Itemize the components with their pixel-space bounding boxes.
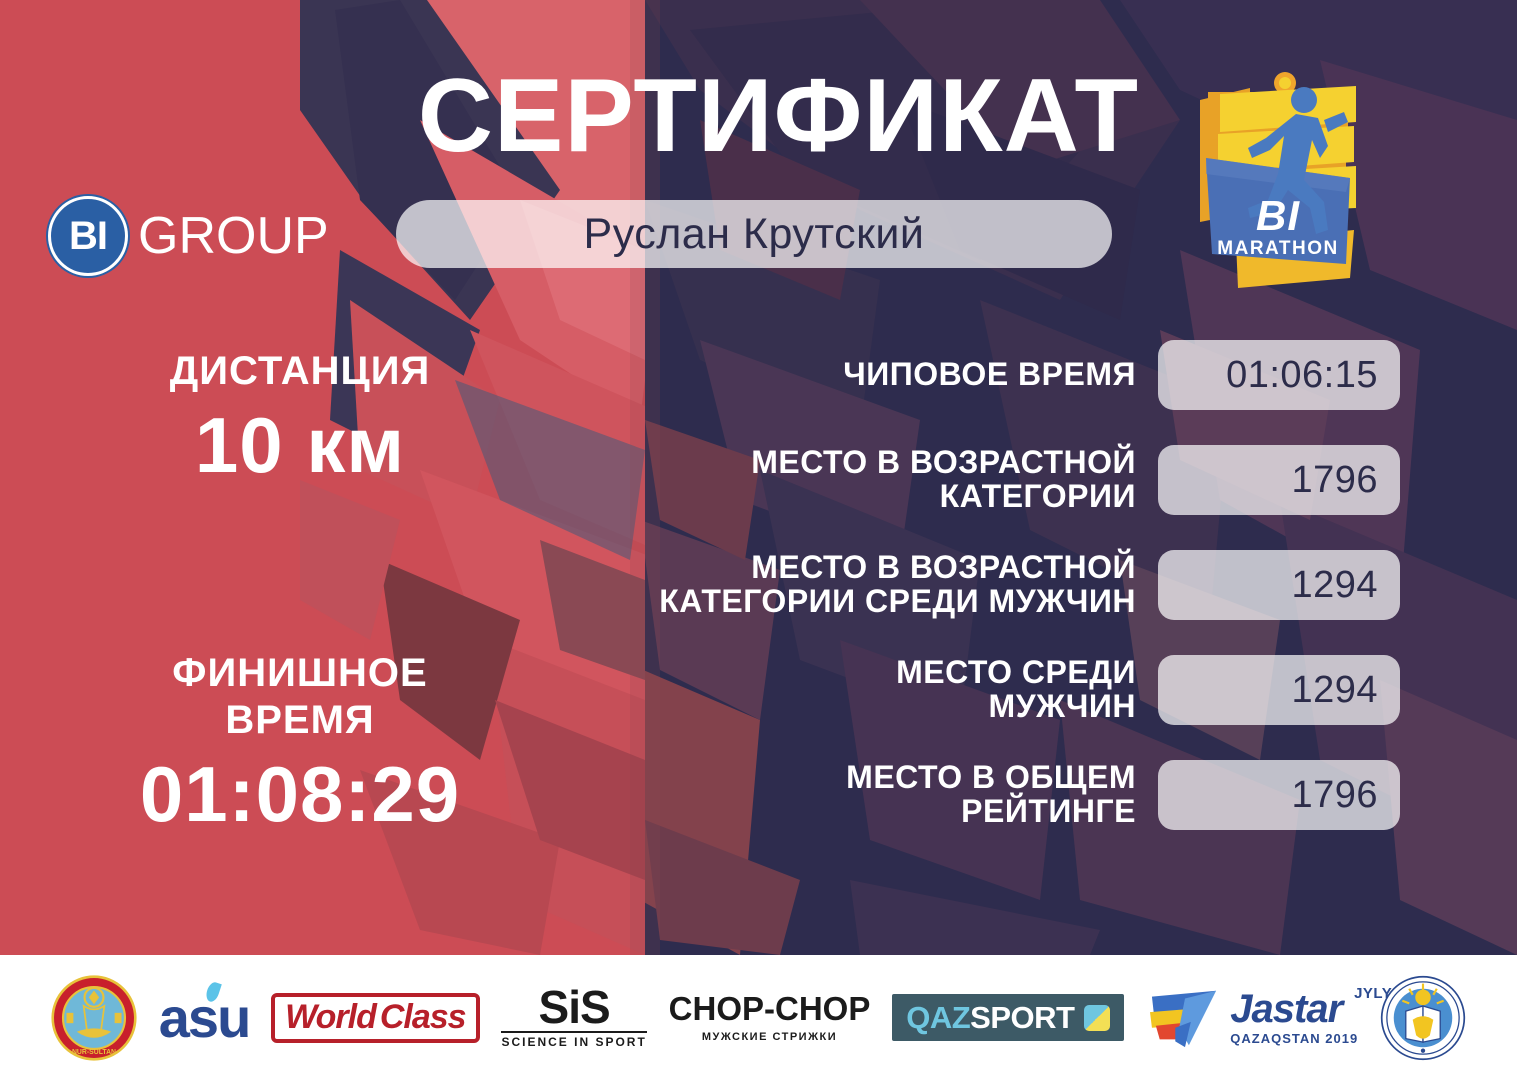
sponsor-bar: NUR-SULTAN asu World Class SiS SCIENCE I… [0, 955, 1517, 1080]
nur-sultan-emblem-icon: NUR-SULTAN [51, 975, 137, 1061]
asu-wordmark: asu [159, 990, 250, 1046]
result-row: МЕСТО СРЕДИ МУЖЧИН 1294 [520, 655, 1400, 725]
certificate-canvas: СЕРТИФИКАТ Руслан Крутский BI GROUP [0, 0, 1517, 1080]
result-label: МЕСТО СРЕДИ МУЖЧИН [896, 656, 1158, 723]
result-row: МЕСТО В ВОЗРАСТНОЙ КАТЕГОРИИ 1796 [520, 445, 1400, 515]
jastar-superscript: JYLY [1354, 985, 1392, 1002]
sis-wordmark: SiS SCIENCE IN SPORT [501, 986, 646, 1050]
chop-chop-wordmark: CHOP-CHOP МУЖСКИЕ СТРИЖКИ [669, 992, 871, 1043]
ministry-seal-icon [1380, 975, 1466, 1061]
distance-value: 10 км [60, 401, 540, 491]
qazsport-wordmark: QAZSPORT [892, 994, 1124, 1041]
result-row: МЕСТО В ОБЩЕМ РЕЙТИНГЕ 1796 [520, 760, 1400, 830]
qazsport-text-1: QAZ [906, 1000, 970, 1035]
sponsor-ministry [1380, 975, 1466, 1061]
jastar-arrow-icon [1146, 983, 1224, 1053]
qazsport-mark-icon [1084, 1005, 1110, 1031]
result-label: МЕСТО В ВОЗРАСТНОЙ КАТЕГОРИИ СРЕДИ МУЖЧИ… [659, 551, 1158, 618]
participant-name: Руслан Крутский [584, 210, 925, 259]
svg-text:MARATHON: MARATHON [1217, 238, 1338, 259]
result-value-badge: 1796 [1158, 445, 1400, 515]
sponsor-jastar-jyly: Jastar JYLY QAZAQSTAN 2019 [1146, 983, 1358, 1053]
qazsport-text-2: SPORT [970, 1000, 1074, 1035]
finish-time-label: ФИНИШНОЕ ВРЕМЯ [60, 650, 540, 744]
sponsor-asu: asu [159, 990, 250, 1046]
sis-tagline: SCIENCE IN SPORT [501, 1031, 646, 1049]
sponsor-qazsport: QAZSPORT [892, 994, 1124, 1041]
results-list: ЧИПОВОЕ ВРЕМЯ 01:06:15 МЕСТО В ВОЗРАСТНО… [520, 340, 1400, 830]
jastar-tagline: QAZAQSTAN 2019 [1230, 1031, 1358, 1046]
jastar-text: Jastar [1230, 989, 1358, 1029]
result-value: 1294 [1291, 669, 1378, 712]
finish-time-block: ФИНИШНОЕ ВРЕМЯ 01:08:29 [60, 650, 540, 840]
asu-text: asu [159, 986, 250, 1049]
world-class-wordmark: World Class [271, 993, 479, 1043]
result-value: 1294 [1291, 564, 1378, 607]
result-value-badge: 01:06:15 [1158, 340, 1400, 410]
bi-marathon-logo: BI MARATHON [1178, 62, 1378, 300]
result-value-badge: 1796 [1158, 760, 1400, 830]
chop-chop-tagline: МУЖСКИЕ СТРИЖКИ [669, 1031, 871, 1043]
result-label: МЕСТО В ВОЗРАСТНОЙ КАТЕГОРИИ [751, 446, 1158, 513]
bi-group-word: GROUP [138, 206, 329, 266]
bi-group-logo: BI GROUP [48, 196, 329, 276]
nur-sultan-text: NUR-SULTAN [72, 1049, 116, 1056]
jastar-wordmark: Jastar JYLY QAZAQSTAN 2019 [1146, 983, 1358, 1053]
result-value: 01:06:15 [1226, 354, 1378, 397]
finish-time-value: 01:08:29 [60, 750, 540, 840]
distance-label: ДИСТАНЦИЯ [60, 348, 540, 395]
world-class-text-2: Class [380, 1000, 466, 1034]
result-label: МЕСТО В ОБЩЕМ РЕЙТИНГЕ [846, 761, 1158, 828]
sponsor-sis: SiS SCIENCE IN SPORT [501, 986, 646, 1050]
result-value: 1796 [1291, 774, 1378, 817]
result-value-badge: 1294 [1158, 655, 1400, 725]
sponsor-world-class: World Class [271, 993, 479, 1043]
bi-marathon-icon: BI MARATHON [1178, 62, 1378, 300]
jastar-text-group: Jastar JYLY QAZAQSTAN 2019 [1230, 989, 1358, 1046]
distance-block: ДИСТАНЦИЯ 10 км [60, 348, 540, 491]
bi-circle-icon: BI [48, 196, 128, 276]
qazsport-text: QAZSPORT [906, 1002, 1074, 1033]
result-row: ЧИПОВОЕ ВРЕМЯ 01:06:15 [520, 340, 1400, 410]
sponsor-chop-chop: CHOP-CHOP МУЖСКИЕ СТРИЖКИ [669, 992, 871, 1043]
result-value: 1796 [1291, 459, 1378, 502]
sis-text: SiS [501, 986, 646, 1030]
sponsor-nur-sultan: NUR-SULTAN [51, 975, 137, 1061]
result-label: ЧИПОВОЕ ВРЕМЯ [843, 358, 1158, 392]
result-row: МЕСТО В ВОЗРАСТНОЙ КАТЕГОРИИ СРЕДИ МУЖЧИ… [520, 550, 1400, 620]
svg-text:BI: BI [1256, 192, 1300, 239]
result-value-badge: 1294 [1158, 550, 1400, 620]
world-class-text-1: World [285, 1000, 376, 1034]
chop-chop-text: CHOP-CHOP [669, 992, 871, 1025]
bi-initials: BI [69, 216, 107, 256]
participant-name-plate: Руслан Крутский [396, 200, 1112, 268]
